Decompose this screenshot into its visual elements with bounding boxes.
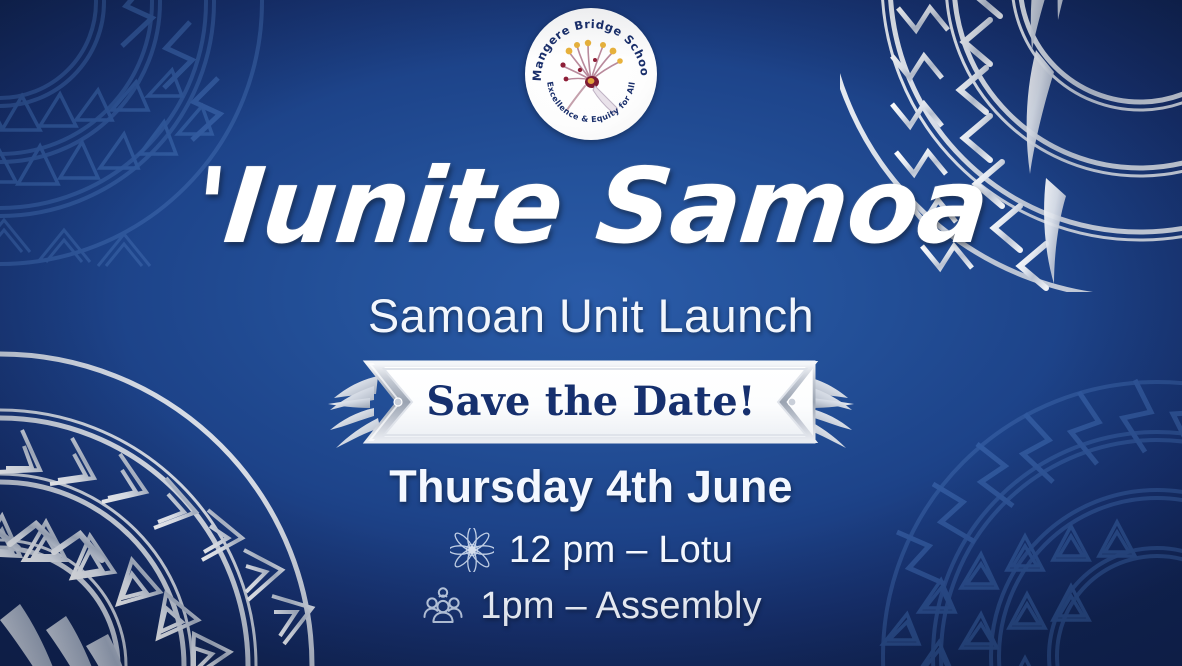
pohutukawa-flower-emblem xyxy=(560,40,622,113)
schedule-row-assembly: 1pm – Assembly xyxy=(0,578,1182,634)
group-people-icon xyxy=(420,583,466,629)
logo-disc: Mangere Bridge School Excellence & Equit… xyxy=(525,8,657,140)
schedule-label-lotu: 12 pm – Lotu xyxy=(509,529,733,572)
school-logo: Mangere Bridge School Excellence & Equit… xyxy=(525,8,657,140)
save-the-date-ribbon: Save the Date! xyxy=(326,356,856,448)
schedule-row-lotu: 12 pm – Lotu xyxy=(0,522,1182,578)
ribbon-label: Save the Date! xyxy=(326,356,856,448)
event-date: Thursday 4th June xyxy=(0,461,1182,513)
poster-headline: 'Iunite Samoa xyxy=(0,151,1182,261)
samoan-unit-launch-poster: Mangere Bridge School Excellence & Equit… xyxy=(0,0,1182,666)
flower-icon xyxy=(449,527,495,573)
schedule-label-assembly: 1pm – Assembly xyxy=(480,585,762,628)
poster-subtitle: Samoan Unit Launch xyxy=(0,288,1182,343)
event-schedule: 12 pm – Lotu 1pm – Assembly xyxy=(0,522,1182,634)
